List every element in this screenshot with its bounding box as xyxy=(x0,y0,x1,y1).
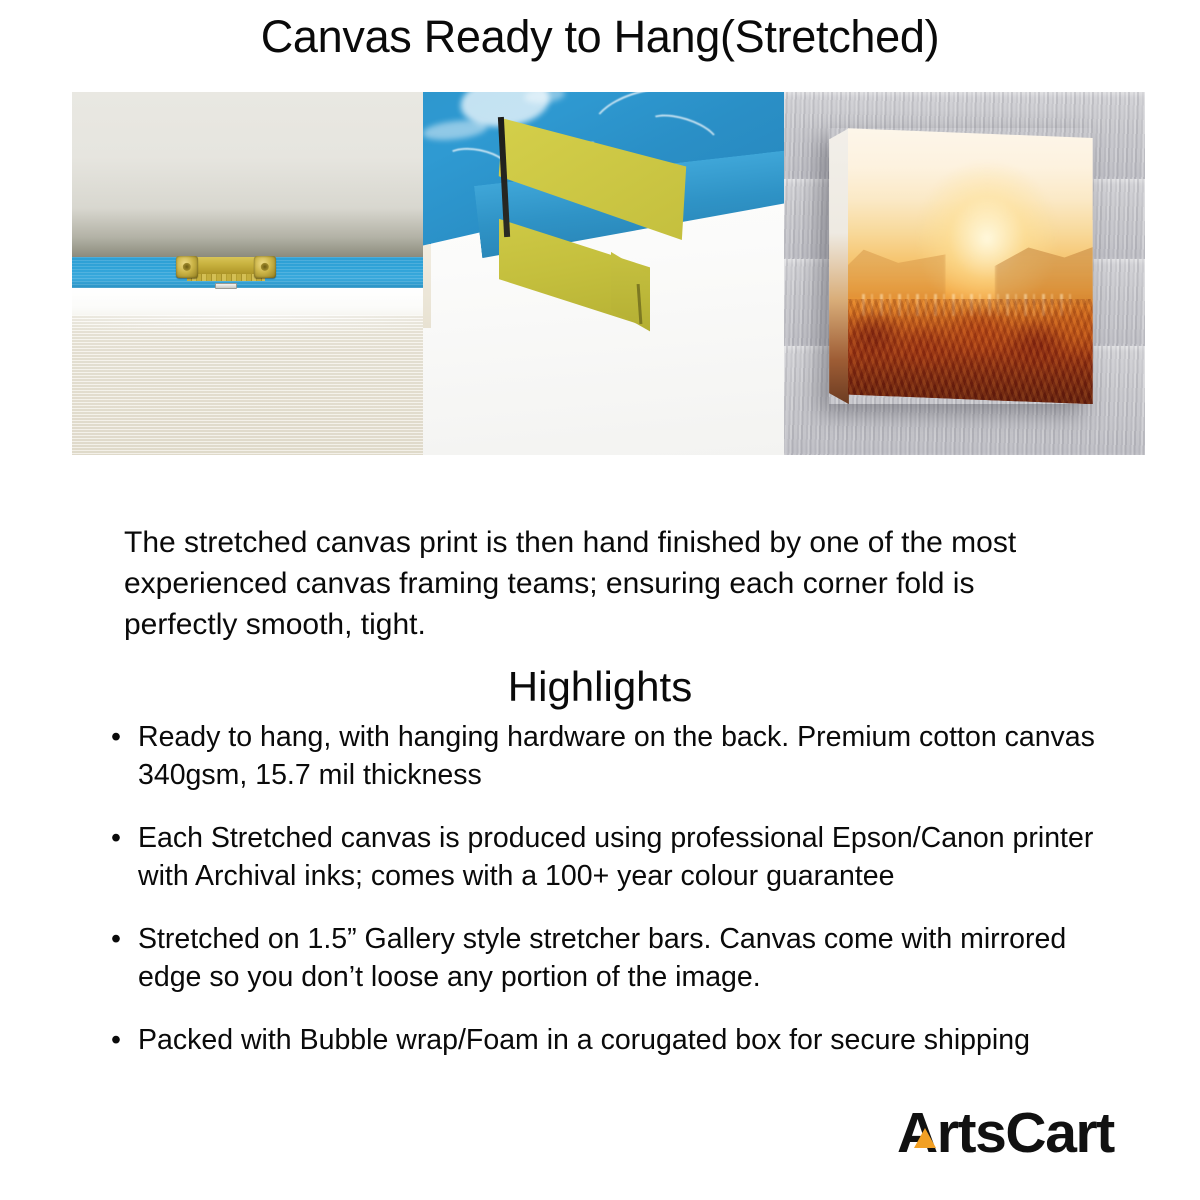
hanging-canvas xyxy=(829,128,1093,404)
logo-triangle-icon xyxy=(914,1128,936,1148)
bullet-marker-icon: • xyxy=(111,1021,121,1059)
list-item: • Ready to hang, with hanging hardware o… xyxy=(104,718,1114,795)
hanger-screw-right xyxy=(254,256,276,278)
bullet-marker-icon: • xyxy=(111,819,121,857)
highlights-heading: Highlights xyxy=(0,663,1200,711)
page-title: Canvas Ready to Hang(Stretched) xyxy=(0,12,1200,62)
hanger-clip xyxy=(215,283,237,289)
brand-logo: ArtsCart xyxy=(897,1100,1157,1166)
list-item-label: Stretched on 1.5” Gallery style stretche… xyxy=(138,923,1066,993)
cloud-shape xyxy=(423,117,489,143)
wispy-line xyxy=(640,107,723,163)
canvas-depth-edge xyxy=(829,128,849,404)
wispy-line xyxy=(686,92,771,101)
corner-photo-left-beige-sliver xyxy=(423,244,431,327)
list-item: • Packed with Bubble wrap/Foam in a coru… xyxy=(104,1021,1114,1059)
canvas-print-face xyxy=(848,128,1093,404)
list-item: • Each Stretched canvas is produced usin… xyxy=(104,819,1114,896)
bullet-marker-icon: • xyxy=(111,920,121,958)
gallery-image-canvas-back-hanger xyxy=(72,92,423,455)
list-item-label: Each Stretched canvas is produced using … xyxy=(138,822,1093,892)
sawtooth-hanger-icon xyxy=(176,255,276,283)
bullet-marker-icon: • xyxy=(111,718,121,756)
canvas-raw-fabric xyxy=(72,315,423,455)
list-item-label: Packed with Bubble wrap/Foam in a coruga… xyxy=(138,1024,1030,1056)
foreground-foliage xyxy=(848,299,1093,404)
list-item: • Stretched on 1.5” Gallery style stretc… xyxy=(104,920,1114,997)
gallery-image-canvas-corner-fold xyxy=(423,92,784,455)
product-description: The stretched canvas print is then hand … xyxy=(124,522,1084,645)
list-item-label: Ready to hang, with hanging hardware on … xyxy=(138,721,1095,791)
highlights-list: • Ready to hang, with hanging hardware o… xyxy=(104,718,1114,1083)
product-image-gallery xyxy=(72,92,1145,455)
gallery-image-canvas-on-wall xyxy=(784,92,1145,455)
hanger-screw-left xyxy=(176,256,198,278)
hanger-teeth xyxy=(187,274,265,281)
